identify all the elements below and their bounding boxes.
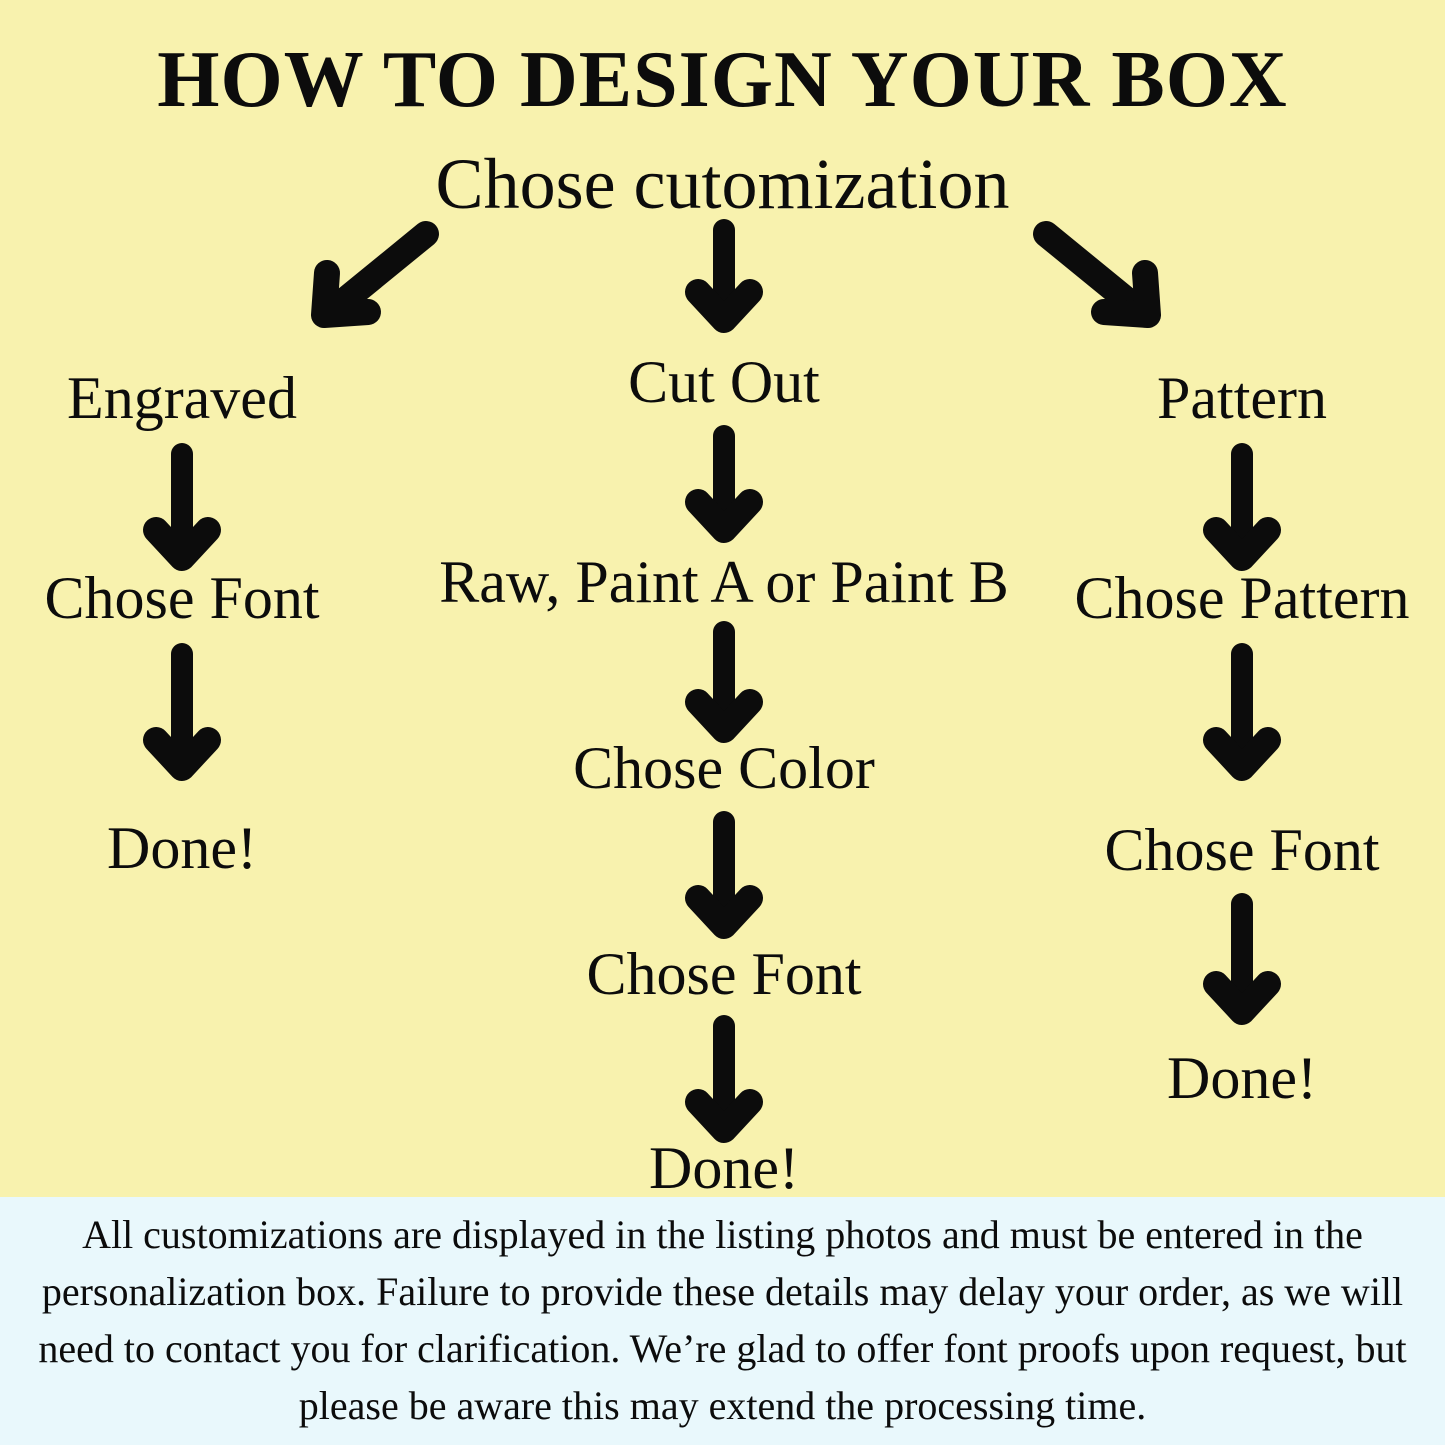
footer-note-text: All customizations are displayed in the … xyxy=(20,1207,1425,1434)
node-engraved: Engraved xyxy=(67,368,297,428)
node-engraved-done: Done! xyxy=(107,818,257,878)
node-cutout-chose-color: Chose Color xyxy=(573,738,875,798)
arrow-start-to-engraved xyxy=(292,218,442,338)
node-engraved-chose-font: Chose Font xyxy=(44,568,319,628)
node-cut-out: Cut Out xyxy=(628,352,820,412)
arrow-start-to-cutout xyxy=(688,226,760,336)
arrow-engraved-to-font xyxy=(146,450,218,575)
node-chose-pattern: Chose Pattern xyxy=(1075,568,1410,628)
node-cutout-done: Done! xyxy=(649,1138,799,1198)
arrow-pattern-to-chose-pattern xyxy=(1206,450,1278,575)
node-cutout-chose-font: Chose Font xyxy=(586,944,861,1004)
footer-note-panel: All customizations are displayed in the … xyxy=(0,1197,1445,1445)
arrow-start-to-pattern xyxy=(1030,218,1180,338)
arrow-pattern-font-to-done xyxy=(1206,900,1278,1030)
arrow-engraved-font-to-done xyxy=(146,650,218,785)
infographic-page: HOW TO DESIGN YOUR BOX Chose cutomizatio… xyxy=(0,0,1445,1445)
node-pattern-chose-font: Chose Font xyxy=(1104,820,1379,880)
arrow-cutout-font-to-done xyxy=(688,1022,760,1147)
flow-start-node: Chose cutomization xyxy=(0,148,1445,220)
page-title: HOW TO DESIGN YOUR BOX xyxy=(0,40,1445,120)
flowchart-panel: HOW TO DESIGN YOUR BOX Chose cutomizatio… xyxy=(0,0,1445,1197)
node-cutout-paint-options: Raw, Paint A or Paint B xyxy=(439,552,1008,612)
arrow-paint-to-color xyxy=(688,628,760,748)
node-pattern-done: Done! xyxy=(1167,1048,1317,1108)
arrow-chose-pattern-to-font xyxy=(1206,650,1278,785)
arrow-color-to-font xyxy=(688,818,760,943)
node-pattern: Pattern xyxy=(1157,368,1327,428)
arrow-cutout-to-paint xyxy=(688,432,760,547)
